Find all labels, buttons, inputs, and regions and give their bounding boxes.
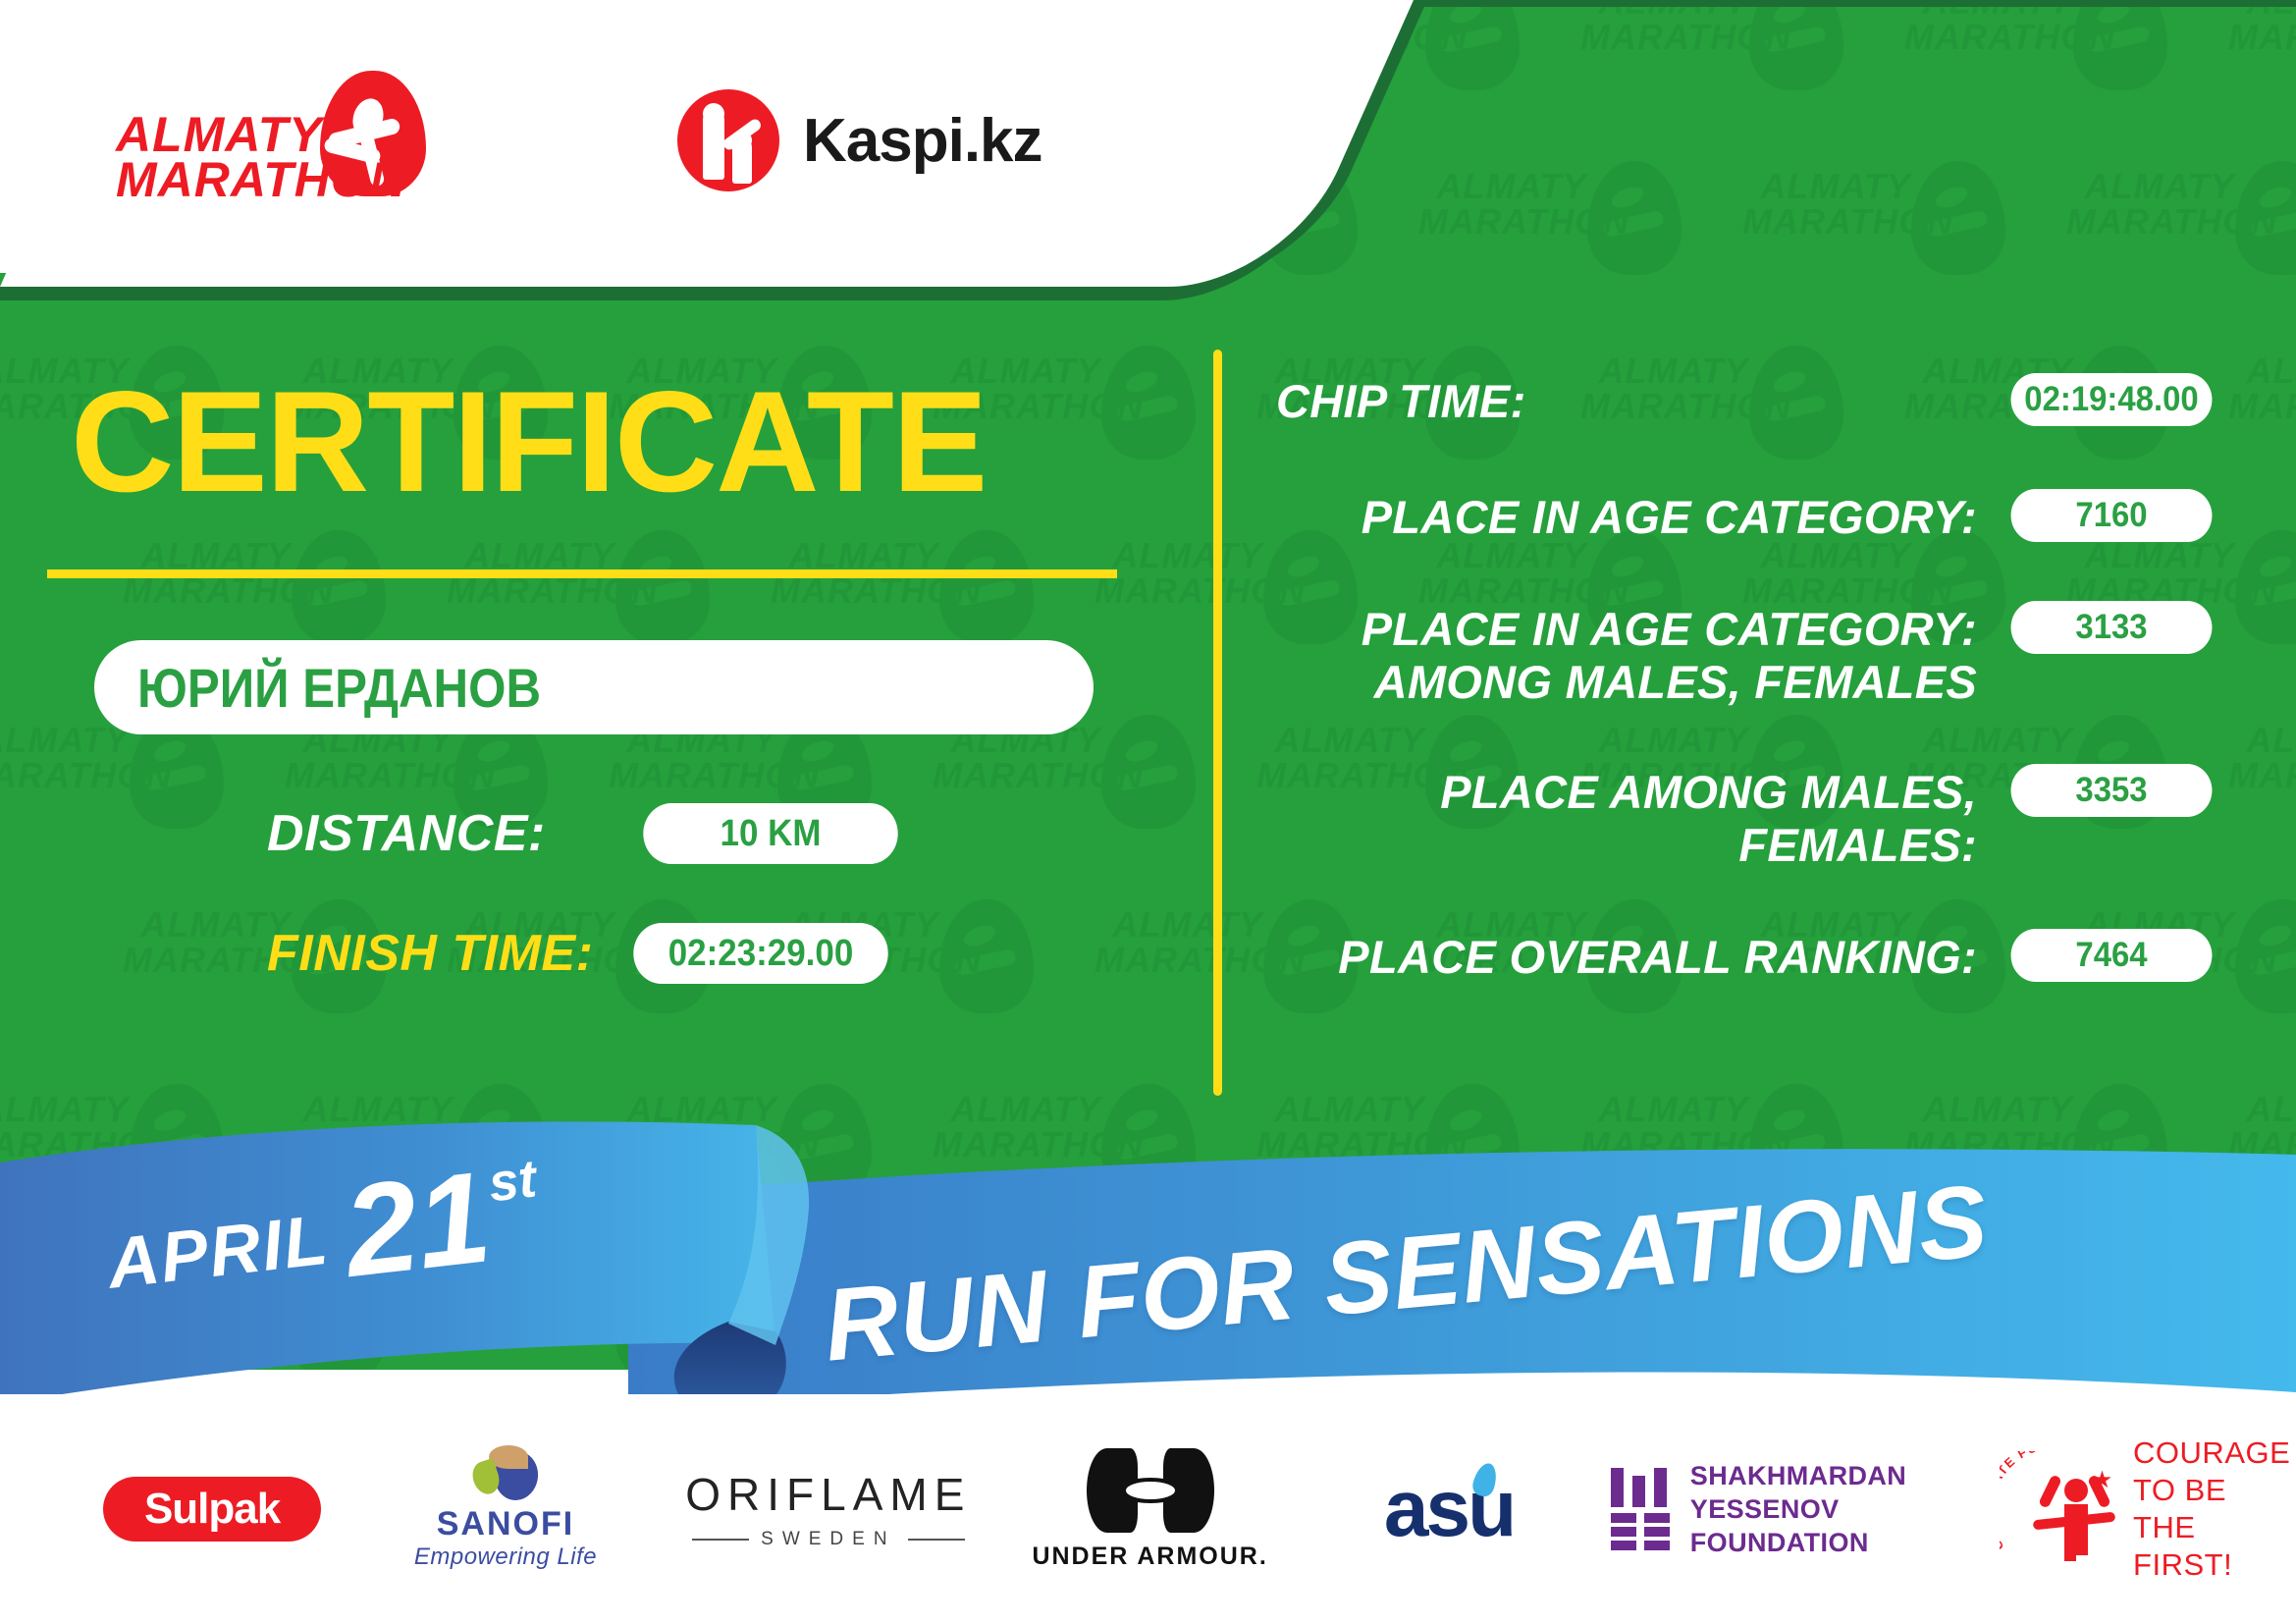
yessenov-mark-icon	[1609, 1468, 1669, 1550]
watermark-tile: ALMATYMARATHON	[1580, 0, 1875, 118]
place-among-gender-label: PLACE AMONG MALES, FEMALES:	[1440, 764, 1977, 872]
watermark-tile: ALMATYMARATHON	[2228, 340, 2296, 487]
stat-row: PLACE AMONG MALES, FEMALES: 3353	[1276, 764, 2218, 872]
place-age-category-value: 7160	[2011, 489, 2213, 542]
header-logos: ALMATY MARATHON Kaspi.kz	[0, 0, 1286, 287]
courage-mark-icon: CORPORATE FUND ★	[2000, 1451, 2117, 1567]
oriflame-wordmark: ORIFLAME	[685, 1468, 971, 1521]
under-armour-wordmark: UNDER ARMOUR.	[1032, 1543, 1267, 1571]
watermark-tile: ALMATYMARATHON	[2066, 155, 2296, 302]
watermark-text: ALMATYMARATHON	[1580, 0, 1767, 55]
place-among-gender-value: 3353	[2011, 764, 2213, 817]
almaty-line: ALMATY	[116, 112, 400, 157]
sponsor-logo-asu: asu	[1318, 1435, 1579, 1583]
yessenov-line-1: SHAKHMARDAN YESSENOV	[1690, 1459, 1974, 1526]
watermark-text: ALMATYMARATHON	[0, 723, 147, 793]
courage-line-1: COURAGE	[2133, 1435, 2296, 1472]
stat-row: PLACE OVERALL RANKING: 7464	[1276, 929, 2218, 984]
asu-wordmark: asu	[1384, 1469, 1514, 1549]
watermark-text: ALMATYMARATHON	[1904, 0, 2091, 55]
sponsor-bar: Sulpak SANOFI Empowering Life ORIFLAME S…	[0, 1394, 2296, 1624]
sponsor-logo-under-armour: UNDER ARMOUR.	[1011, 1435, 1289, 1583]
kaspi-people-icon	[677, 89, 779, 191]
watermark-text: ALMATYMARATHON	[1095, 538, 1281, 609]
stat-row: PLACE IN AGE CATEGORY: AMONG MALES, FEMA…	[1276, 601, 2218, 709]
watermark-tile: ALMATYMARATHON	[2228, 709, 2296, 856]
column-divider	[1213, 350, 1222, 1096]
watermark-text: ALMATYMARATHON	[1418, 169, 1605, 240]
distance-value: 10 KM	[643, 803, 897, 864]
watermark-text: ALMATYMARATHON	[2228, 353, 2296, 424]
sponsor-logo-courage-fund: CORPORATE FUND ★ COURAGE TO BE THE FIRST…	[2000, 1435, 2296, 1583]
participant-name: ЮРИЙ ЕРДАНОВ	[137, 656, 541, 720]
watermark-tile: ALMATYMARATHON	[1904, 0, 2199, 118]
place-age-category-gender-label: PLACE IN AGE CATEGORY: AMONG MALES, FEMA…	[1362, 601, 1977, 709]
courage-wordmark: COURAGE TO BE THE FIRST!	[2133, 1435, 2296, 1584]
distance-label: DISTANCE:	[267, 804, 546, 863]
oriflame-sweden-text: SWEDEN	[761, 1529, 895, 1550]
kaspi-wordmark: Kaspi.kz	[803, 106, 1042, 176]
chip-time-value: 02:19:48.00	[2011, 373, 2213, 426]
watermark-tile: ALMATYMARATHON	[1418, 155, 1713, 302]
sponsor-logo-sanofi: SANOFI Empowering Life	[375, 1435, 636, 1583]
watermark-text: ALMATYMARATHON	[1742, 169, 1929, 240]
watermark-text: ALMATYMARATHON	[2066, 169, 2253, 240]
results-stats: CHIP TIME: 02:19:48.00 PLACE IN AGE CATE…	[1276, 373, 2218, 1027]
stat-row: CHIP TIME: 02:19:48.00	[1276, 373, 2218, 428]
courage-line-2: TO BE	[2133, 1472, 2296, 1509]
yessenov-wordmark: SHAKHMARDAN YESSENOV FOUNDATION	[1690, 1459, 1974, 1559]
oriflame-rule-left	[692, 1539, 749, 1541]
sanofi-tagline: Empowering Life	[414, 1543, 597, 1571]
event-day: 21	[339, 1158, 495, 1291]
almaty-marathon-wordmark: ALMATY MARATHON	[116, 112, 400, 202]
event-ribbon: APRIL 21 st RUN FOR SENSATIONS	[0, 1098, 2296, 1422]
sanofi-wordmark: SANOFI	[437, 1506, 574, 1542]
finish-time-value: 02:23:29.00	[634, 923, 888, 984]
watermark-tile: ALMATYMARATHON	[1742, 155, 2037, 302]
participant-name-field: ЮРИЙ ЕРДАНОВ	[94, 640, 1094, 734]
sponsor-logo-yessenov-foundation: SHAKHMARDAN YESSENOV FOUNDATION	[1609, 1435, 1974, 1583]
title-underline	[47, 569, 1117, 578]
courage-figure-icon: ★	[2043, 1469, 2111, 1559]
sulpak-wordmark: Sulpak	[103, 1477, 321, 1542]
finish-time-row: FINISH TIME: 02:23:29.00	[267, 923, 899, 984]
watermark-text: ALMATYMARATHON	[1095, 907, 1281, 978]
distance-row: DISTANCE: 10 KM	[267, 803, 909, 864]
finish-time-label: FINISH TIME:	[267, 924, 593, 983]
chip-time-label: CHIP TIME:	[1276, 373, 1526, 428]
marathon-line: MARATHON	[116, 157, 400, 202]
sponsor-logo-oriflame: ORIFLAME SWEDEN	[685, 1435, 972, 1583]
almaty-marathon-logo: ALMATY MARATHON	[116, 71, 430, 223]
sanofi-mark-icon	[467, 1447, 544, 1502]
watermark-tile: ALMATYMARATHON	[2228, 0, 2296, 118]
kaspi-logo: Kaspi.kz	[677, 86, 1042, 194]
place-overall-value: 7464	[2011, 929, 2213, 982]
courage-line-3: THE FIRST!	[2133, 1509, 2296, 1584]
certificate-page: ALMATYMARATHONALMATYMARATHONALMATYMARATH…	[0, 0, 2296, 1624]
watermark-text: ALMATYMARATHON	[2228, 723, 2296, 793]
sponsor-logo-sulpak: Sulpak	[69, 1435, 355, 1583]
place-age-category-gender-value: 3133	[2011, 601, 2213, 654]
place-age-category-label: PLACE IN AGE CATEGORY:	[1362, 489, 1977, 544]
watermark-text: ALMATYMARATHON	[2228, 0, 2296, 55]
place-overall-label: PLACE OVERALL RANKING:	[1338, 929, 1977, 984]
oriflame-rule-right	[908, 1539, 965, 1541]
yessenov-line-2: FOUNDATION	[1690, 1526, 1974, 1559]
stat-row: PLACE IN AGE CATEGORY: 7160	[1276, 489, 2218, 544]
certificate-title: CERTIFICATE	[71, 373, 1131, 511]
under-armour-icon	[1087, 1448, 1214, 1533]
oriflame-subline: SWEDEN	[692, 1529, 964, 1550]
